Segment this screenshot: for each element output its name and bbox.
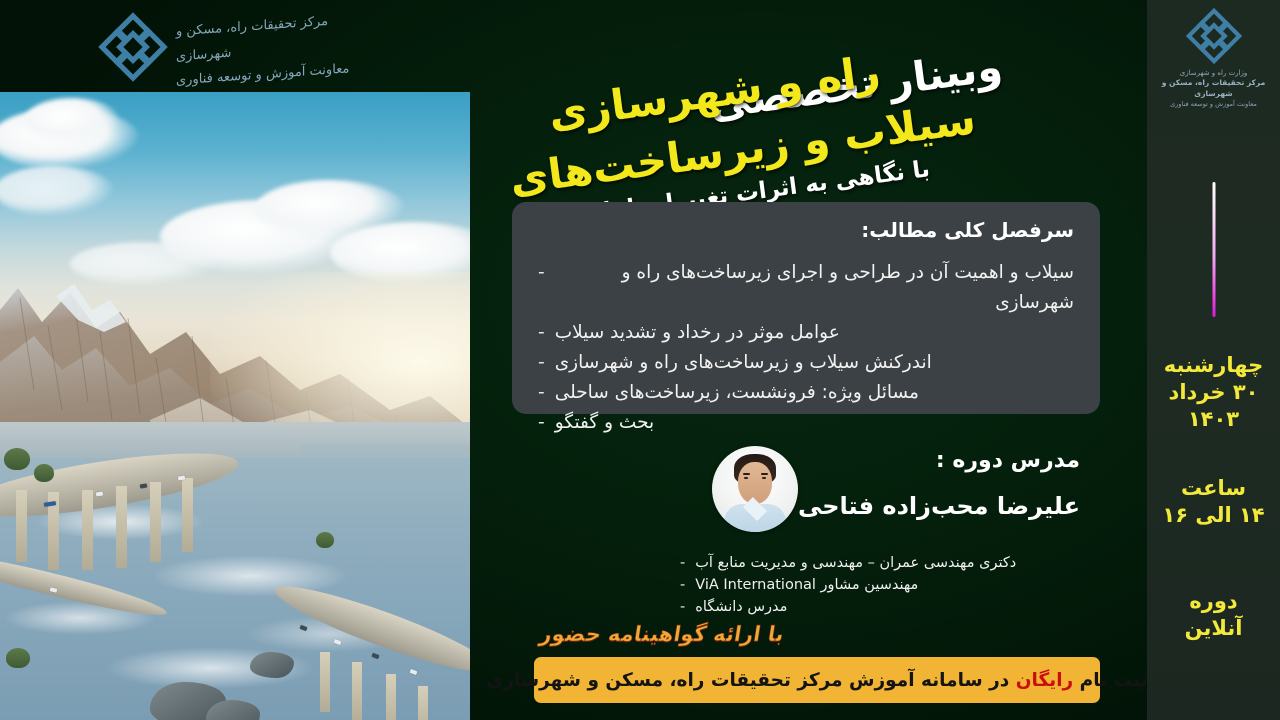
agenda-item: - سیلاب و اهمیت آن در طراحی و اجرای زیرس… — [538, 258, 1074, 318]
bridge-pier — [182, 478, 193, 552]
instructor-credentials: - دکتری مهندسی عمران – مهندسی و مدیریت م… — [680, 552, 1080, 618]
credential-item: - مدرس دانشگاه — [680, 596, 1080, 618]
info-sidebar: وزارت راه و شهرسازی مرکز تحقیقات راه، مس… — [1147, 0, 1280, 720]
title-block: وبینار تخصصی راه و شهرسازی سیلاب و زیرسا… — [470, 18, 1150, 193]
agenda-item: - مسائل ویژه: فرونشست، زیرساخت‌های ساحلی — [538, 378, 1074, 408]
agenda-heading: سرفصل کلی مطالب: — [538, 218, 1074, 242]
bullet-dash: - — [680, 596, 685, 618]
cta-text: ثبت نام رایگان در سامانه آموزش مرکز تحقی… — [486, 670, 1147, 691]
ministry-right-logo: وزارت راه و شهرسازی مرکز تحقیقات راه، مس… — [1147, 6, 1280, 109]
event-mode-label: دوره — [1147, 588, 1280, 615]
avatar-eye — [762, 477, 766, 479]
credential-item: - مهندسین مشاور ViA International — [680, 574, 1080, 596]
event-time-label: ساعت — [1147, 475, 1280, 502]
webinar-poster: LMS.bhrc.ac.ir مرکز تحقیقات راه، مسکن و … — [0, 0, 1280, 720]
registration-cta-banner[interactable]: ثبت نام رایگان در سامانه آموزش مرکز تحقی… — [534, 657, 1100, 703]
bullet-dash: - — [538, 348, 545, 378]
instructor-name: علیرضا محب‌زاده فتاحی — [798, 492, 1080, 520]
instructor-block: مدرس دوره : علیرضا محب‌زاده فتاحی — [620, 440, 1080, 540]
bullet-dash: - — [538, 318, 545, 348]
certificate-note: با ارائه گواهینامه حضور — [538, 622, 786, 646]
avatar-face — [738, 462, 772, 504]
tree — [4, 448, 30, 470]
agenda-item: - بحث و گفتگو — [538, 408, 1074, 438]
instructor-avatar — [712, 446, 798, 532]
agenda-item: - اندرکنش سیلاب و زیرساخت‌های راه و شهرس… — [538, 348, 1074, 378]
tree — [34, 464, 54, 482]
event-time-value: ۱۴ الی ۱۶ — [1147, 502, 1280, 529]
decorative-divider — [1212, 182, 1215, 317]
bullet-dash: - — [680, 574, 685, 596]
credential-text: دکتری مهندسی عمران – مهندسی و مدیریت منا… — [695, 552, 1016, 574]
agenda-item-text: بحث و گفتگو — [555, 408, 654, 438]
bridge-pier — [386, 674, 396, 720]
agenda-item: - عوامل موثر در رخداد و تشدید سیلاب — [538, 318, 1074, 348]
credential-text: مدرس دانشگاه — [695, 596, 787, 618]
bullet-dash: - — [538, 408, 545, 438]
agenda-panel: سرفصل کلی مطالب: - سیلاب و اهمیت آن در ط… — [512, 202, 1100, 414]
avatar-brow — [761, 473, 768, 475]
credential-text: مهندسین مشاور ViA International — [695, 574, 918, 596]
right-logo-text: وزارت راه و شهرسازی مرکز تحقیقات راه، مس… — [1147, 68, 1280, 109]
bridge-pier — [320, 652, 330, 712]
tree — [316, 532, 334, 548]
rock — [250, 652, 294, 678]
left-logo-text: مرکز تحقیقات راه، مسکن و شهرسازی معاونت … — [176, 0, 361, 94]
tree — [6, 648, 30, 668]
instructor-label: مدرس دوره : — [936, 448, 1080, 473]
right-logo-line1: وزارت راه و شهرسازی — [1151, 68, 1276, 78]
agenda-item-text: سیلاب و اهمیت آن در طراحی و اجرای زیرساخ… — [555, 258, 1074, 318]
bridge-pier — [150, 482, 161, 562]
avatar-brow — [743, 473, 750, 475]
bhrc-diamond-logo-icon — [1184, 6, 1244, 66]
cta-suffix: در سامانه آموزش مرکز تحقیقات راه، مسکن و… — [486, 670, 1009, 691]
bhrc-diamond-logo-icon — [96, 10, 170, 84]
bridge-pier — [418, 686, 428, 720]
agenda-item-text: عوامل موثر در رخداد و تشدید سیلاب — [555, 318, 840, 348]
event-time: ساعت ۱۴ الی ۱۶ — [1147, 475, 1280, 529]
bhrc-left-logo: مرکز تحقیقات راه، مسکن و شهرسازی معاونت … — [96, 8, 361, 86]
cloud-icon — [24, 98, 120, 144]
event-date: چهارشنبه ۳۰ خرداد ۱۴۰۳ — [1147, 352, 1280, 433]
avatar-eye — [744, 477, 748, 479]
cta-prefix: ثبت نام — [1080, 670, 1148, 691]
credential-item: - دکتری مهندسی عمران – مهندسی و مدیریت م… — [680, 552, 1080, 574]
bullet-dash: - — [680, 552, 685, 574]
bridge-pier — [352, 662, 362, 720]
event-mode: دوره آنلاین — [1147, 588, 1280, 642]
agenda-item-text: مسائل ویژه: فرونشست، زیرساخت‌های ساحلی — [555, 378, 919, 408]
event-date-weekday: چهارشنبه — [1147, 352, 1280, 379]
bridge-pier — [16, 490, 27, 562]
cta-free-word: رایگان — [1016, 670, 1073, 691]
bullet-dash: - — [538, 258, 545, 288]
event-mode-value: آنلاین — [1147, 615, 1280, 642]
agenda-item-text: اندرکنش سیلاب و زیرساخت‌های راه و شهرساز… — [555, 348, 932, 378]
bullet-dash: - — [538, 378, 545, 408]
hero-image: LMS.bhrc.ac.ir — [0, 92, 470, 720]
event-date-day-month: ۳۰ خرداد — [1147, 379, 1280, 406]
bridge-pier — [116, 486, 127, 568]
right-logo-line2: مرکز تحقیقات راه، مسکن و شهرسازی — [1151, 78, 1276, 100]
event-date-year: ۱۴۰۳ — [1147, 406, 1280, 433]
agenda-list: - سیلاب و اهمیت آن در طراحی و اجرای زیرس… — [538, 258, 1074, 438]
right-logo-line3: معاونت آموزش و توسعه فناوری — [1151, 100, 1276, 109]
bridge-pier — [82, 490, 93, 570]
